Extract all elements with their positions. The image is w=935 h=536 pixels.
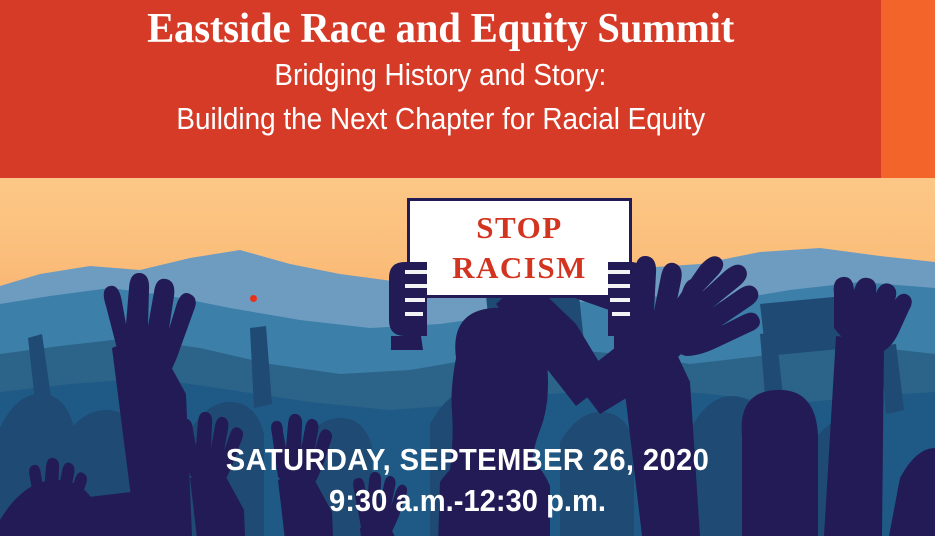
red-accent-dot [250, 295, 257, 302]
sign-line-stop: STOP [476, 208, 562, 248]
header-text-block: Eastside Race and Equity Summit Bridging… [0, 0, 881, 178]
poster-canvas: STOP RACISM Eastside Race and Equity Sum… [0, 0, 935, 536]
event-date: SATURDAY, SEPTEMBER 26, 2020 [28, 440, 907, 480]
sign-line-racism: RACISM [452, 248, 587, 288]
event-datetime-block: SATURDAY, SEPTEMBER 26, 2020 9:30 a.m.-1… [0, 440, 935, 522]
page-title: Eastside Race and Equity Summit [147, 4, 734, 54]
stop-racism-sign: STOP RACISM [407, 198, 632, 298]
subtitle-line-1: Bridging History and Story: [275, 54, 607, 96]
hand-gripping-sign-left [383, 250, 427, 355]
hand-gripping-sign-right [608, 250, 652, 355]
subtitle-line-2: Building the Next Chapter for Racial Equ… [176, 96, 705, 142]
header-accent-strip [881, 0, 935, 178]
event-time: 9:30 a.m.-12:30 p.m. [28, 480, 907, 522]
